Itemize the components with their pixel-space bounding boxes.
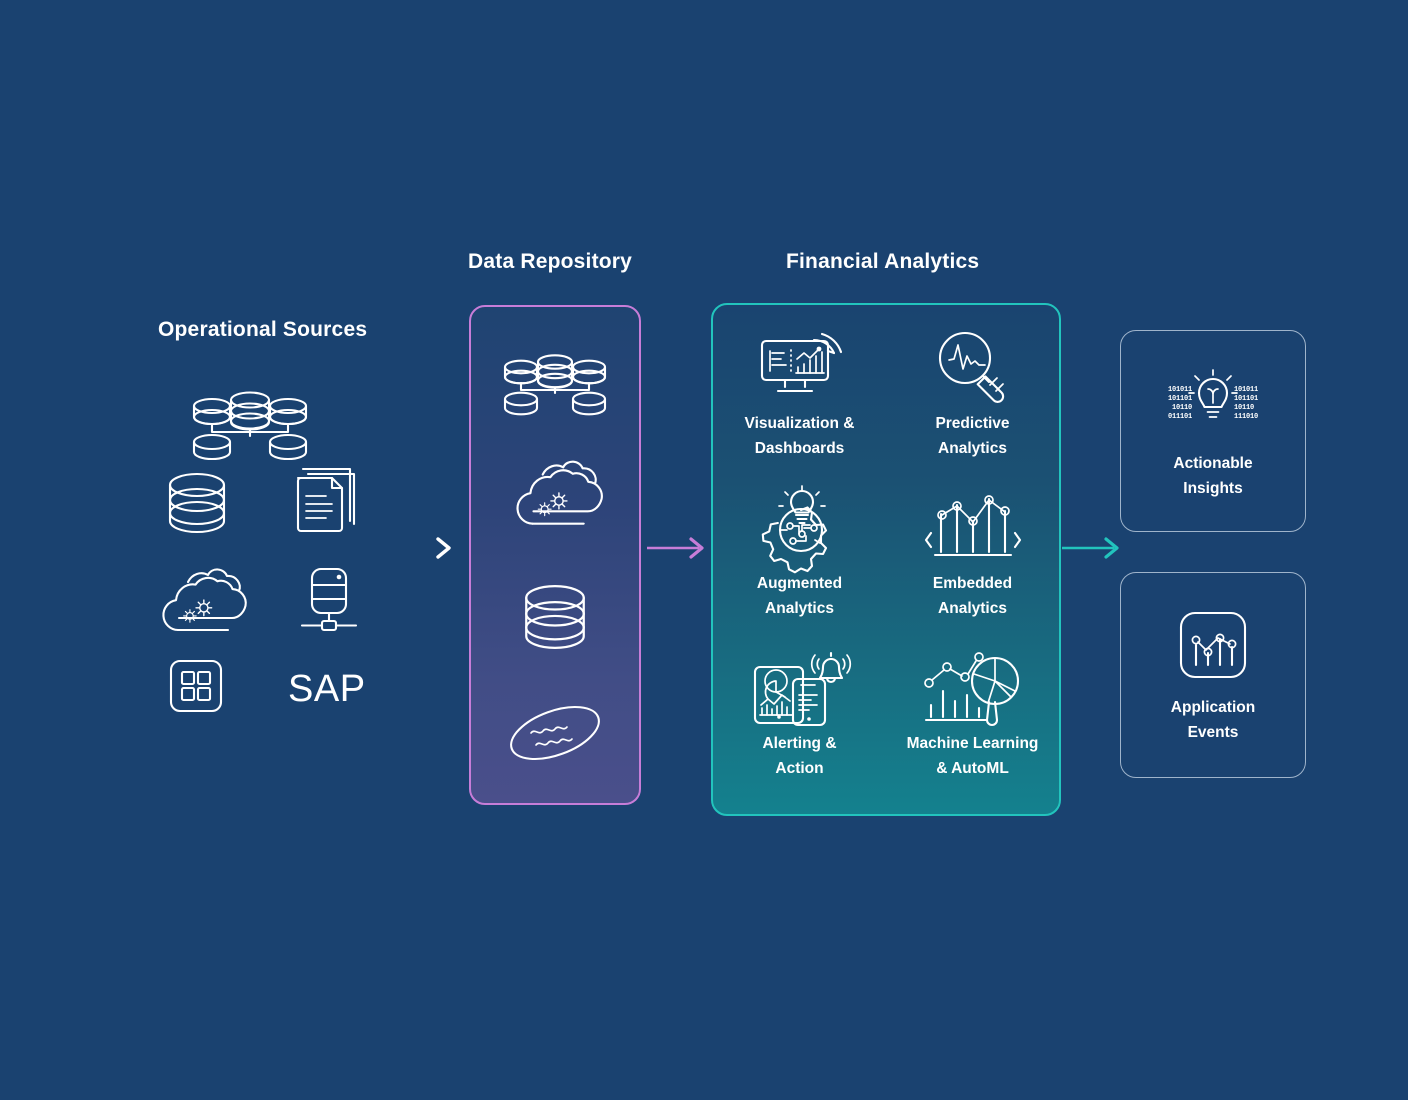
outcome-label: Actionable Insights [1173, 451, 1252, 501]
arrow-repo-to-analytics [645, 535, 715, 561]
capability-machine-learning-automl[interactable]: Machine Learning & AutoML [890, 647, 1055, 807]
database-cylinder-icon [166, 472, 228, 534]
cloud-gears-icon [158, 570, 242, 636]
svg-text:10110: 10110 [1234, 404, 1254, 412]
financial-analytics-panel: Visualization & Dashboards Predictive An… [711, 303, 1061, 816]
capability-label: Machine Learning & AutoML [907, 731, 1039, 781]
data-repository-panel [469, 305, 641, 805]
database-cluster-icon [502, 353, 608, 415]
svg-text:101101: 101101 [1234, 395, 1258, 403]
app-grid-icon [168, 658, 224, 714]
svg-text:101101: 101101 [1168, 395, 1192, 403]
capability-label: Alerting & Action [762, 731, 836, 781]
arrow-analytics-to-outcomes [1060, 535, 1130, 561]
capability-embedded-analytics[interactable]: Embedded Analytics [890, 487, 1055, 647]
financial-analytics-heading: Financial Analytics [786, 250, 979, 274]
tablet-phone-bell-icon [749, 647, 851, 725]
capability-alerting-action[interactable]: Alerting & Action [717, 647, 882, 807]
outcome-label: Application Events [1171, 695, 1255, 745]
sap-label: SAP [288, 668, 366, 711]
monitor-dashboard-icon [752, 327, 848, 405]
svg-text:101011: 101011 [1168, 386, 1192, 394]
server-node-icon [298, 565, 360, 637]
data-repository-heading: Data Repository [468, 250, 632, 274]
diagram-canvas: Operational Sources Data Repository Fina… [0, 0, 1408, 1100]
capability-label: Embedded Analytics [933, 571, 1012, 621]
svg-text:111010: 111010 [1234, 413, 1258, 421]
magnifier-pie-bars-icon [921, 647, 1025, 725]
analytics-capability-grid: Visualization & Dashboards Predictive An… [713, 327, 1059, 807]
bar-line-chart-brackets-icon [923, 487, 1023, 565]
capability-augmented-analytics[interactable]: Augmented Analytics [717, 487, 882, 647]
svg-text:10110: 10110 [1172, 404, 1192, 412]
database-cluster-icon [190, 390, 310, 460]
data-lake-icon [505, 701, 605, 765]
app-chart-icon [1175, 605, 1251, 685]
arrow-sources-to-repo [352, 535, 462, 561]
operational-sources-heading: Operational Sources [158, 318, 367, 342]
lightbulb-binary-icon: 101011 101101 10110 011101 101011 101101… [1148, 361, 1278, 441]
capability-label: Predictive Analytics [935, 411, 1009, 461]
capability-label: Visualization & Dashboards [745, 411, 855, 461]
magnifier-pulse-icon [933, 327, 1013, 405]
svg-text:011101: 011101 [1168, 413, 1192, 421]
database-cylinder-icon [522, 584, 588, 650]
gear-lightbulb-circuit-icon [757, 487, 843, 565]
cloud-gears-icon [512, 462, 598, 530]
svg-text:101011: 101011 [1234, 386, 1258, 394]
documents-stack-icon [292, 464, 362, 536]
card-actionable-insights[interactable]: 101011 101101 10110 011101 101011 101101… [1120, 330, 1306, 532]
card-application-events[interactable]: Application Events [1120, 572, 1306, 778]
capability-predictive-analytics[interactable]: Predictive Analytics [890, 327, 1055, 487]
capability-label: Augmented Analytics [757, 571, 842, 621]
capability-visualization-dashboards[interactable]: Visualization & Dashboards [717, 327, 882, 487]
